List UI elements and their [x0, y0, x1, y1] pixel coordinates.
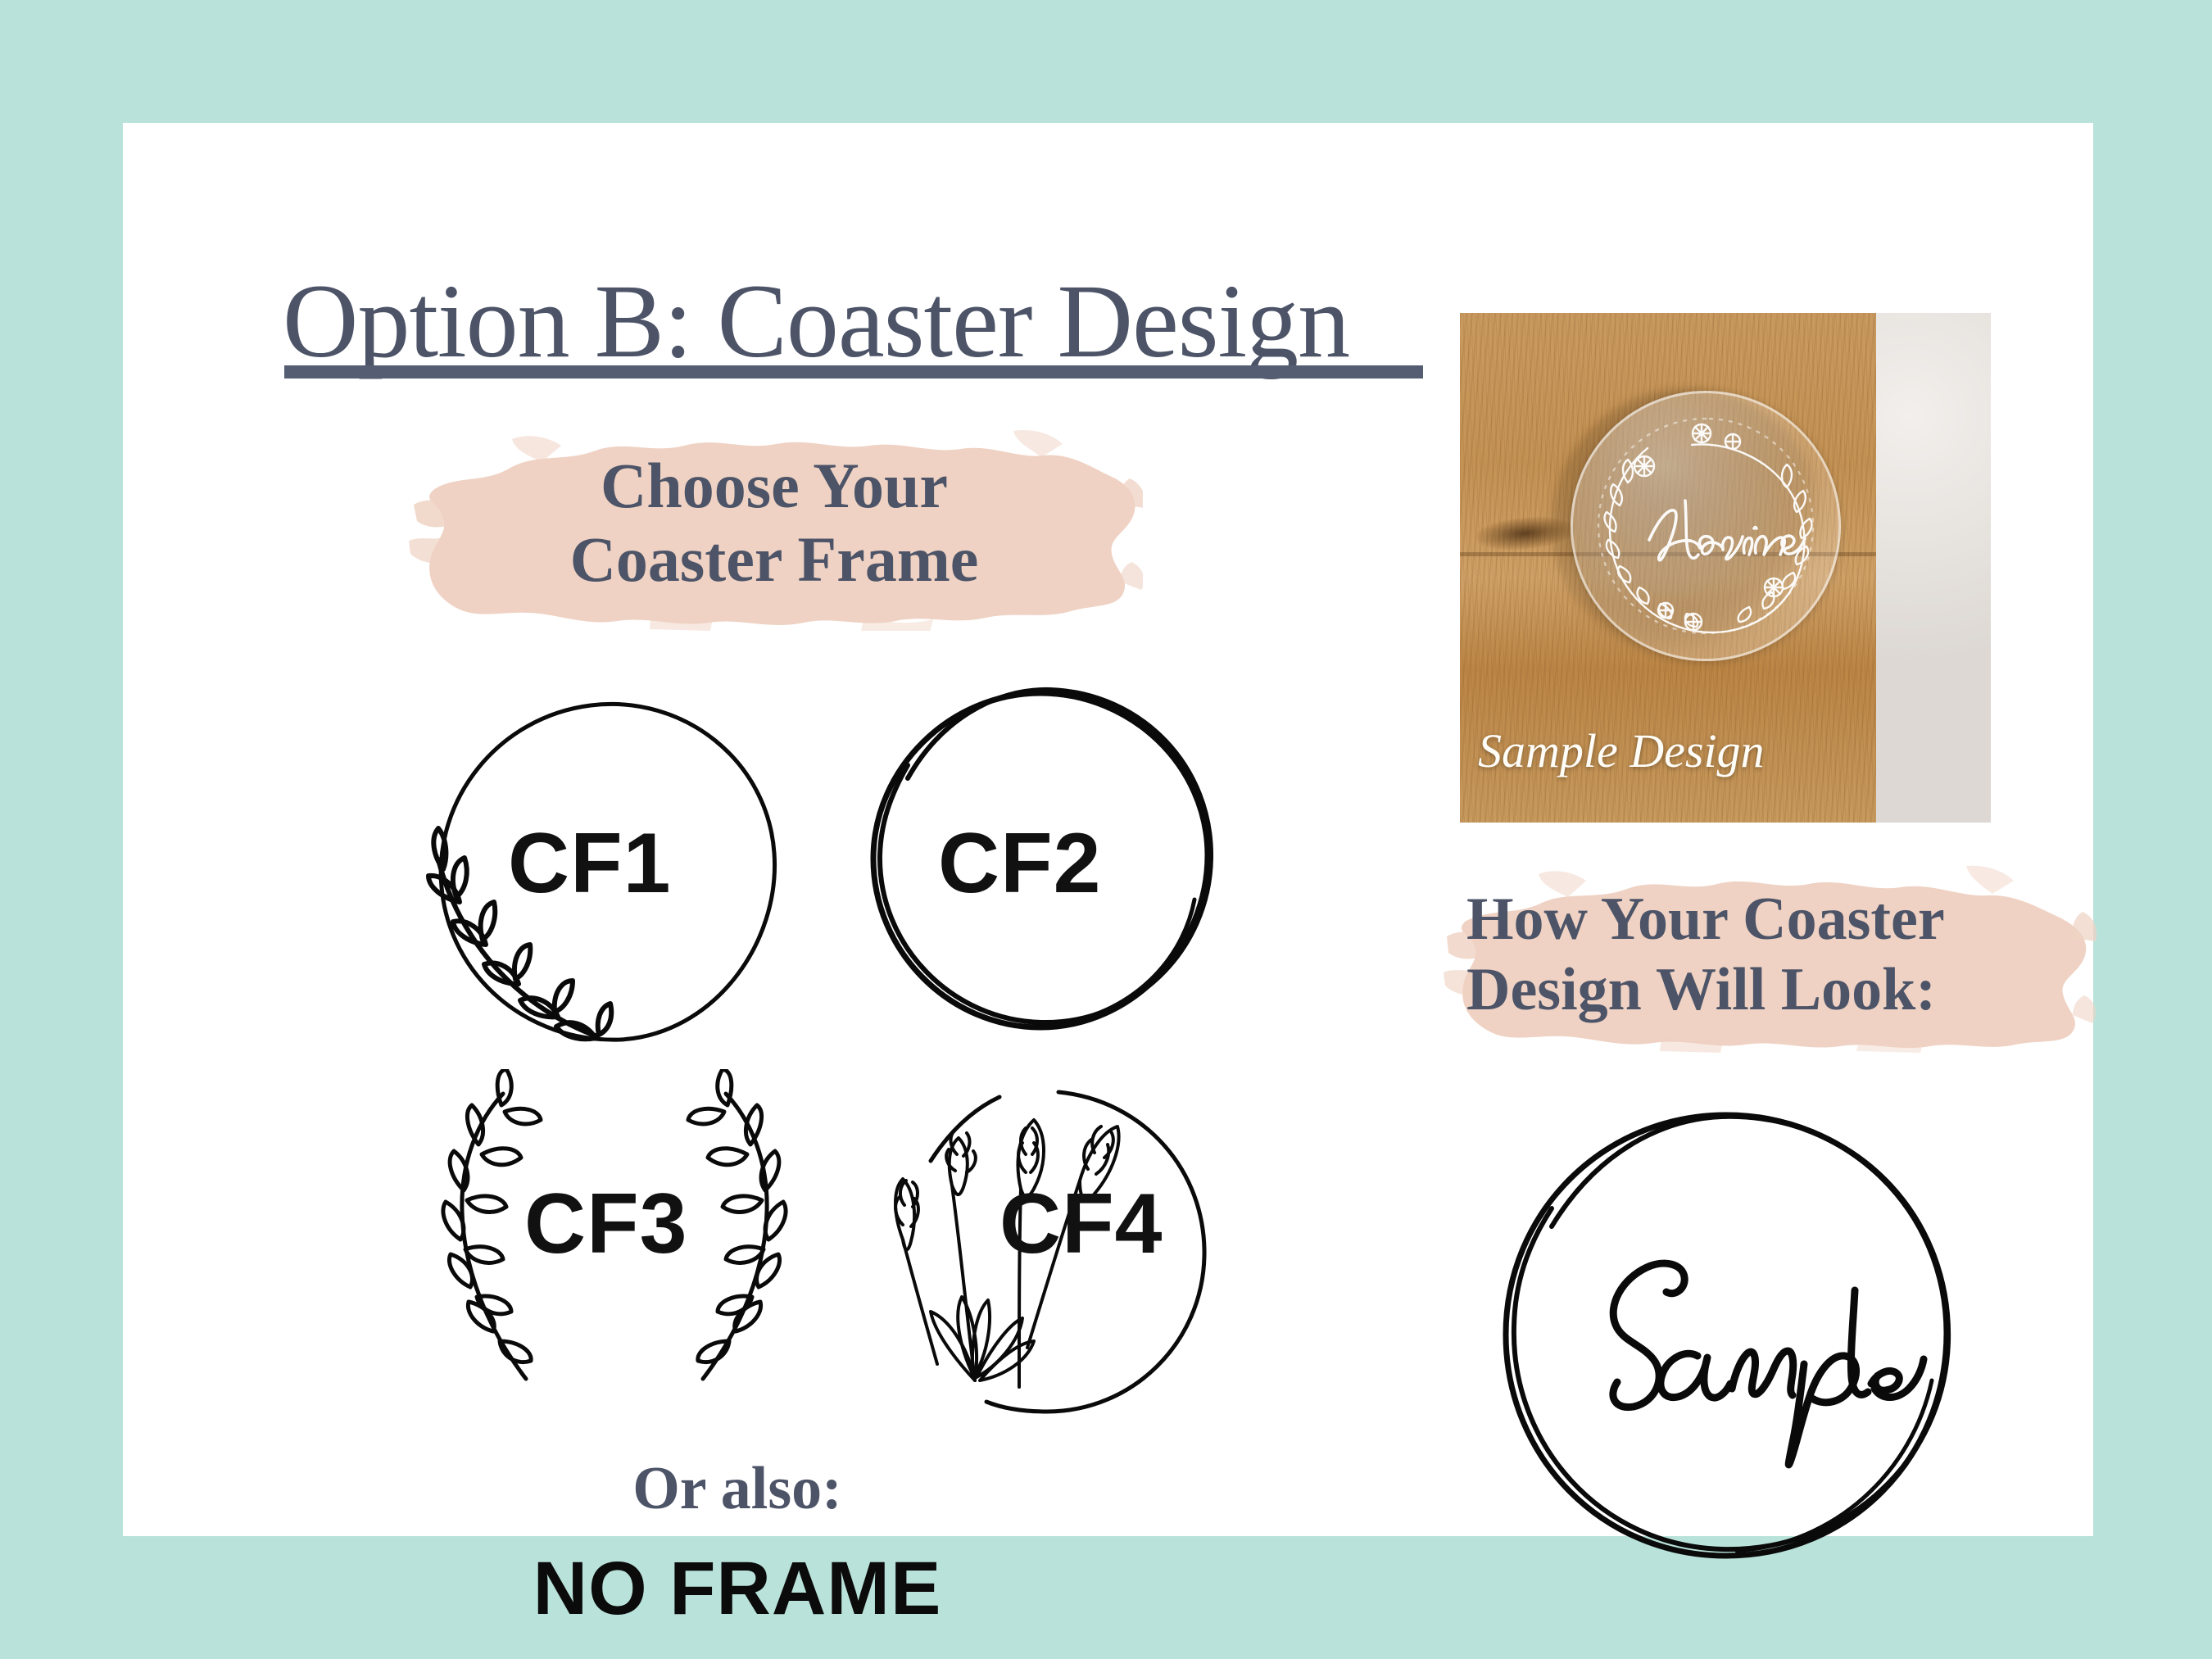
choose-frame-heading: Choose Your Coaster Frame: [406, 449, 1143, 597]
content-card: Option B: Coaster Design Choose Your Coa…: [123, 123, 2093, 1536]
sample-design-photo: Sample Design: [1460, 313, 1991, 823]
frame-label-cf2: CF2: [938, 815, 1101, 913]
stone-surface-background: [1876, 313, 1991, 823]
title-underline: [284, 365, 1423, 378]
frame-label-cf1: CF1: [508, 815, 671, 913]
frame-label-cf4: CF4: [999, 1176, 1163, 1273]
sample-preview-icon: [1493, 1102, 1960, 1569]
engraved-floral-wreath-icon: [1571, 391, 1841, 661]
no-frame-option[interactable]: NO FRAME: [500, 1546, 975, 1632]
page-title: Option B: Coaster Design: [283, 269, 1349, 374]
coaster-design-preview: [1493, 1102, 1960, 1569]
photo-caption: Sample Design: [1478, 723, 1765, 778]
frame-label-cf3: CF3: [524, 1176, 687, 1273]
acrylic-coaster-disc: [1571, 391, 1841, 661]
how-design-looks-heading: How Your Coaster Design Will Look:: [1450, 885, 2097, 1026]
or-also-label: Or also:: [500, 1454, 975, 1524]
